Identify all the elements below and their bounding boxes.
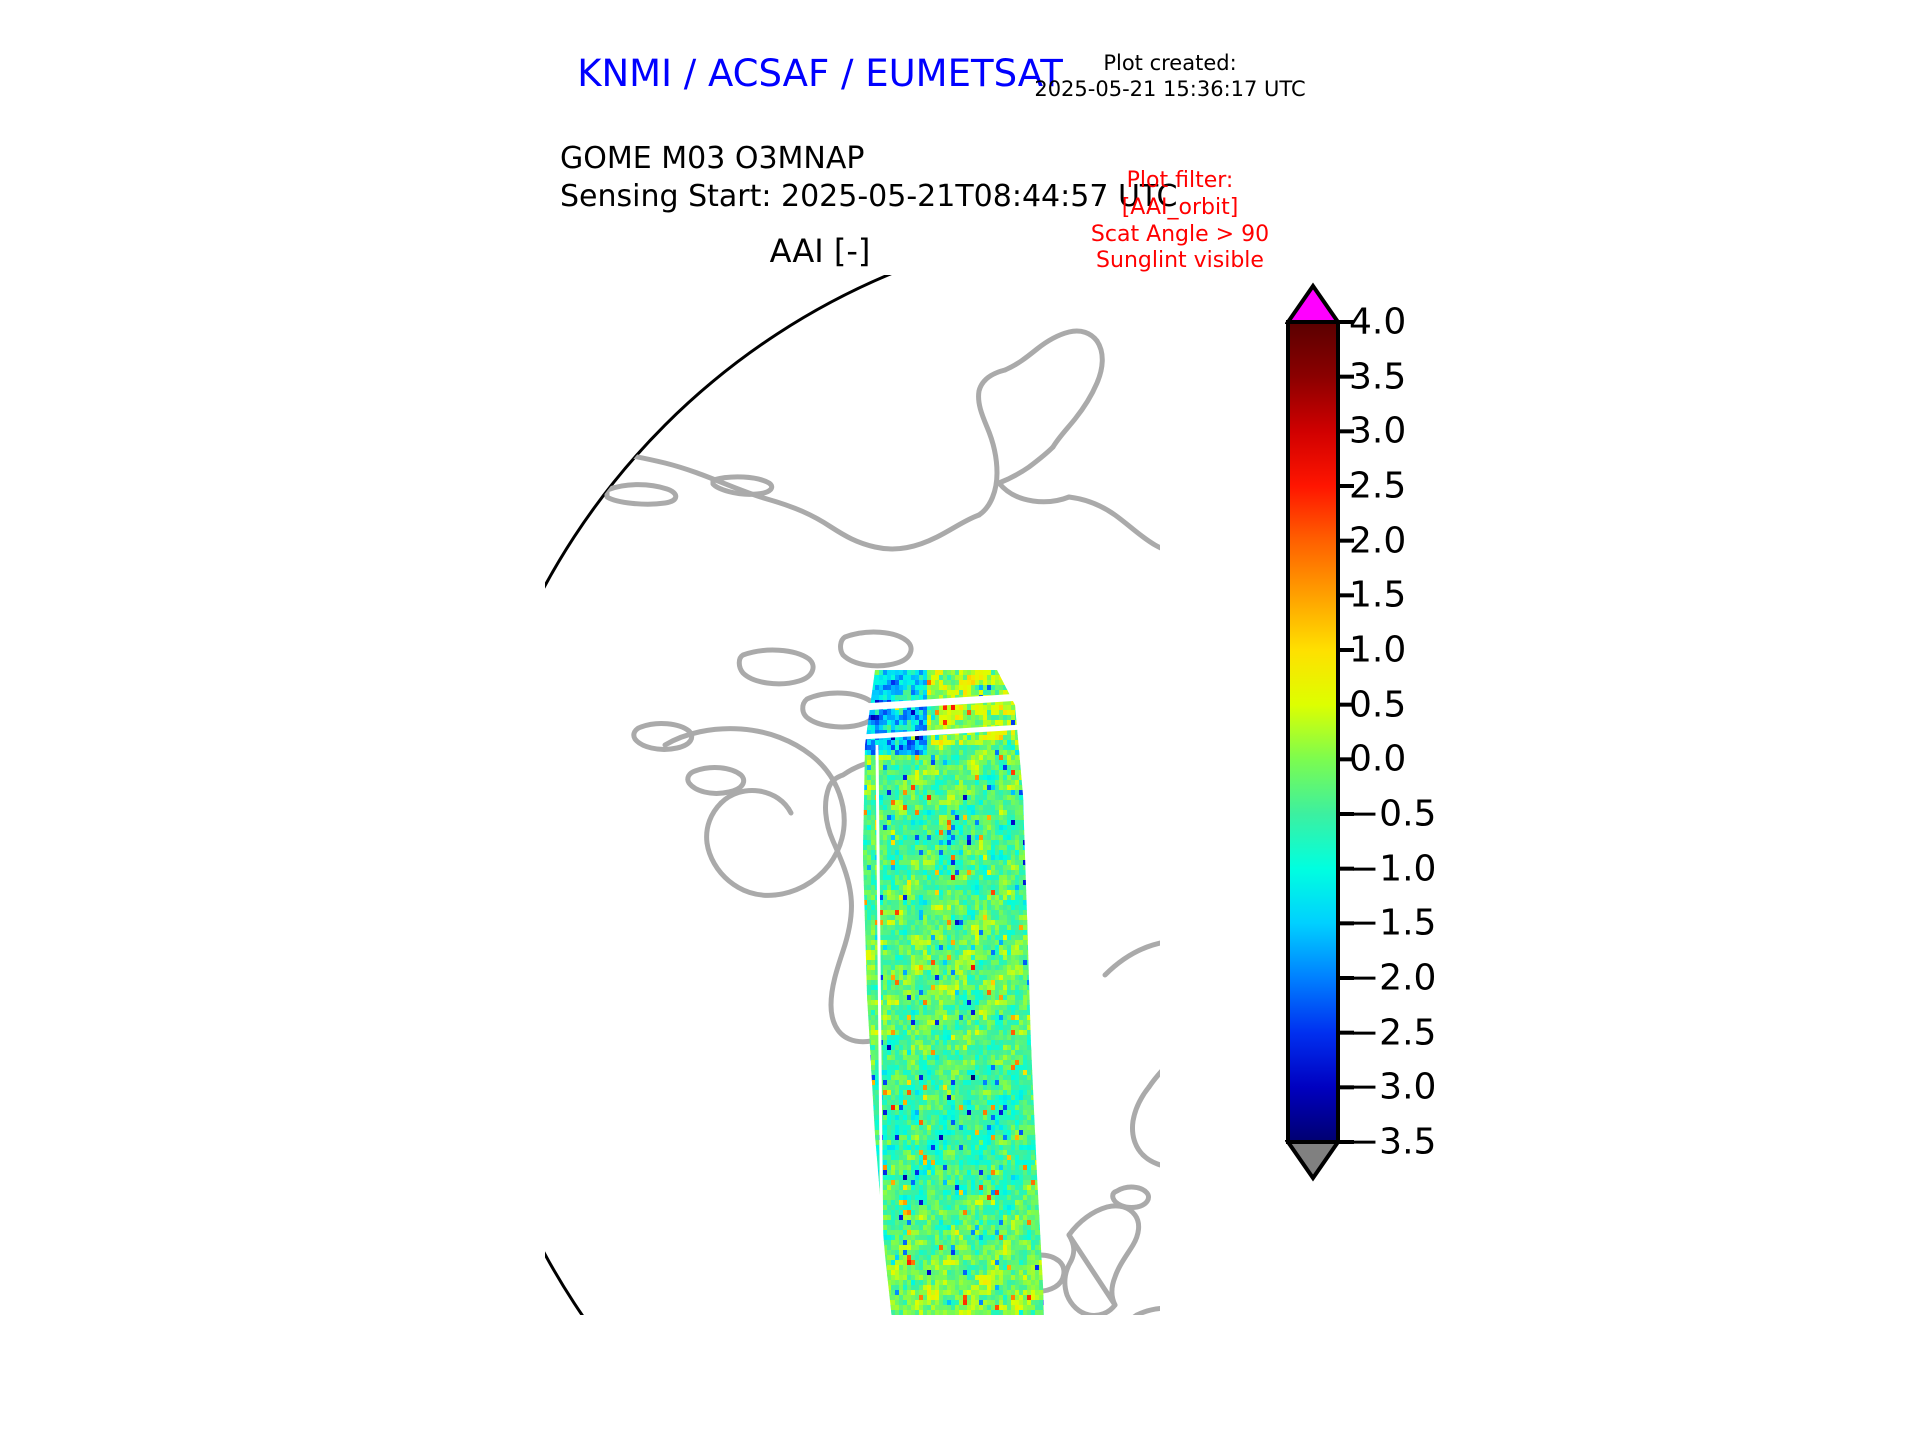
plot-filter-line-2: Sunglint visible (1030, 248, 1330, 275)
colorbar-tick-label: −1.5 (1349, 903, 1436, 944)
colorbar-tick-label: −1.0 (1349, 848, 1436, 889)
plot-created-label: Plot created: (1010, 50, 1330, 76)
colorbar-tick-label: 1.0 (1349, 630, 1406, 671)
colorbar-gradient (1288, 322, 1338, 1142)
colorbar-tick-label: 0.0 (1349, 739, 1406, 780)
colorbar-tick-label: 2.0 (1349, 520, 1406, 561)
plot-filter-line-1: Scat Angle > 90 (1030, 222, 1330, 249)
plot-created-value: 2025-05-21 15:36:17 UTC (1010, 76, 1330, 102)
sensing-start-title: Sensing Start: 2025-05-21T08:44:57 UTC (560, 178, 1080, 216)
colorbar-tick-label: 3.5 (1349, 356, 1406, 397)
colorbar-tick-label: 4.0 (1349, 302, 1406, 343)
colorbar-tick-label: 1.5 (1349, 575, 1406, 616)
colorbar-tick-label: −0.5 (1349, 794, 1436, 835)
colorbar: 4.03.53.02.52.01.51.00.50.0−0.5−1.0−1.5−… (1285, 282, 1585, 1312)
plot-created-block: Plot created: 2025-05-21 15:36:17 UTC (1010, 50, 1330, 103)
plot-page: KNMI / ACSAF / EUMETSAT Plot created: 20… (0, 0, 1920, 1440)
colorbar-tick-label: 2.5 (1349, 466, 1406, 507)
colorbar-tick-label: 0.5 (1349, 684, 1406, 725)
plot-filter-heading: Plot filter: (1030, 168, 1330, 195)
under-range-arrow (1288, 1142, 1338, 1178)
instrument-title: GOME M03 O3MNAP (560, 140, 1080, 178)
variable-title: AAI [-] (560, 232, 1080, 270)
colorbar-tick-label: −3.5 (1349, 1122, 1436, 1163)
title-block: GOME M03 O3MNAP Sensing Start: 2025-05-2… (560, 140, 1080, 216)
map-plot-area (545, 275, 1290, 1315)
organisation-title: KNMI / ACSAF / EUMETSAT (560, 52, 1080, 95)
colorbar-tick-label: −3.0 (1349, 1067, 1436, 1108)
plot-filter-line-0: [AAI_orbit] (1030, 195, 1330, 222)
colorbar-tick-label: 3.0 (1349, 411, 1406, 452)
orthographic-map (545, 275, 1290, 1315)
over-range-arrow (1288, 286, 1338, 322)
colorbar-tick-label: −2.5 (1349, 1012, 1436, 1053)
colorbar-tick-label: −2.0 (1349, 958, 1436, 999)
plot-filter-block: Plot filter: [AAI_orbit] Scat Angle > 90… (1030, 168, 1330, 275)
